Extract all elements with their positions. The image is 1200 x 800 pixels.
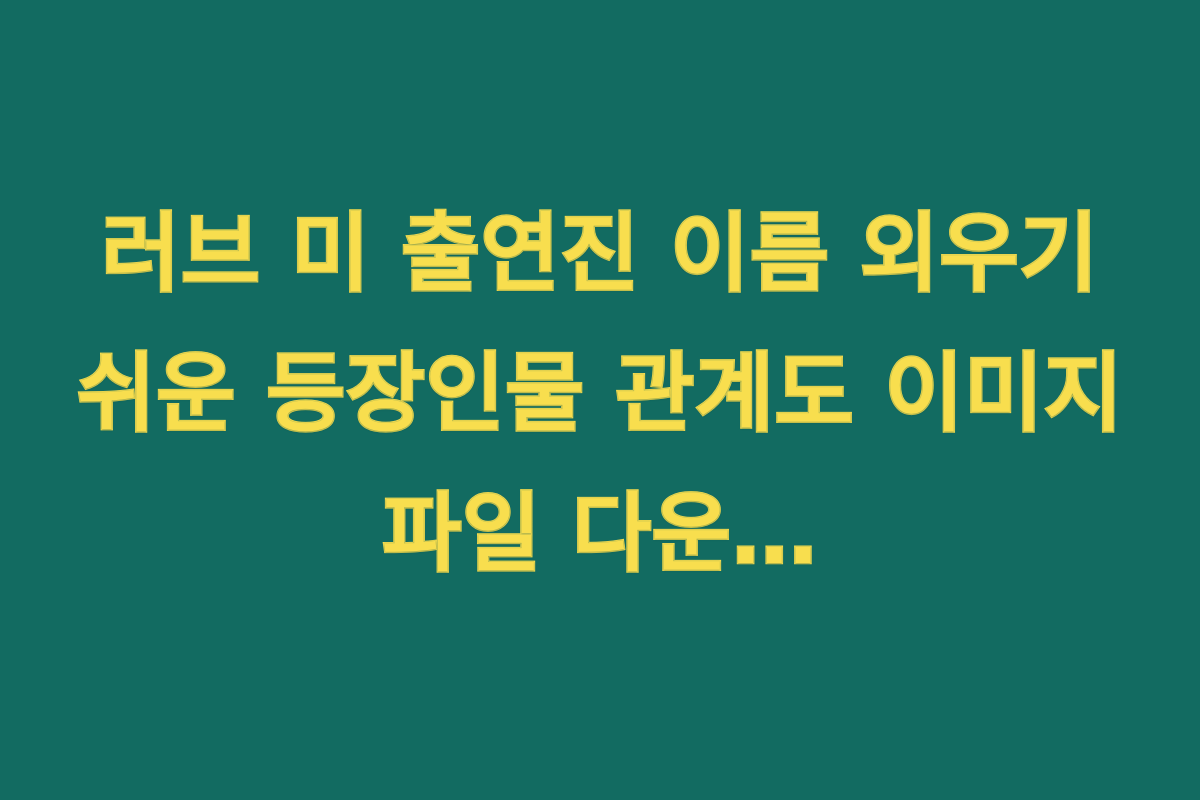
poster-canvas: 러브 미 출연진 이름 외우기 쉬운 등장인물 관계도 이미지 파일 다운…: [0, 0, 1200, 800]
headline-text: 러브 미 출연진 이름 외우기 쉬운 등장인물 관계도 이미지 파일 다운…: [74, 184, 1126, 604]
headline-block: 러브 미 출연진 이름 외우기 쉬운 등장인물 관계도 이미지 파일 다운…: [70, 184, 1130, 604]
